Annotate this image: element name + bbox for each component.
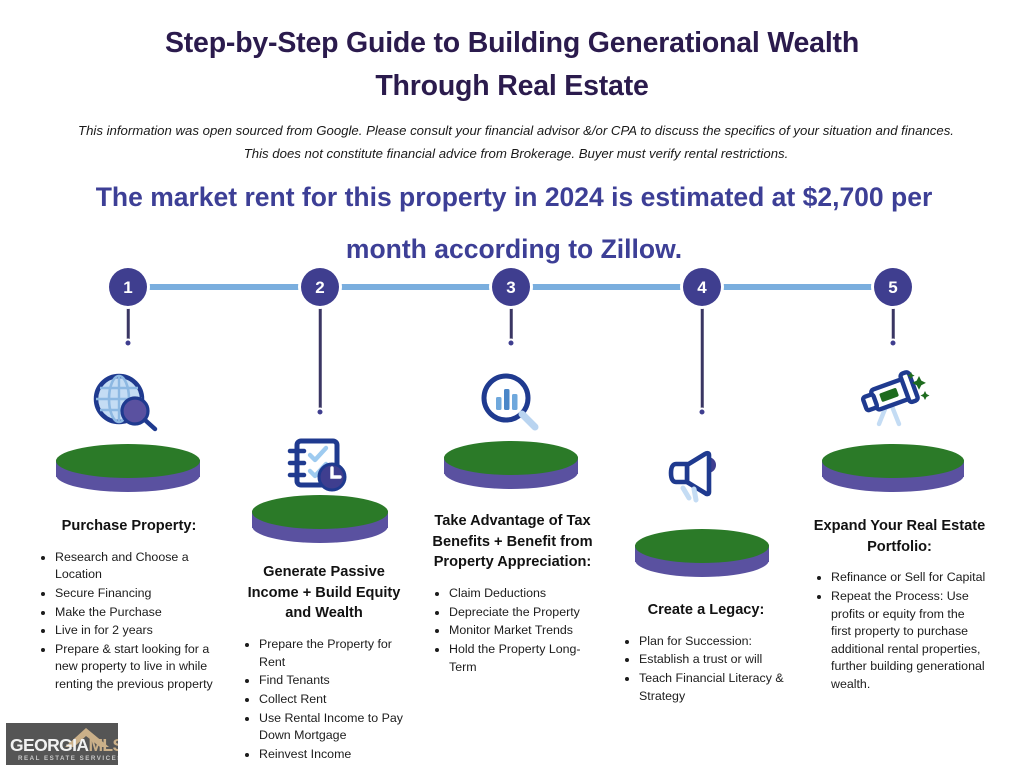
list-item: Make the Purchase bbox=[55, 604, 222, 622]
pedestal-top bbox=[56, 444, 200, 478]
list-item: Claim Deductions bbox=[449, 585, 595, 603]
list-item: Hold the Property Long-Term bbox=[449, 641, 595, 676]
step-bullet-list-4: Plan for Succession: Establish a trust o… bbox=[620, 633, 792, 705]
list-item: Reinvest Income bbox=[259, 746, 408, 764]
step-title-1: Purchase Property: bbox=[36, 516, 222, 537]
step-stem-dot-1 bbox=[124, 339, 133, 348]
step-title-4: Create a Legacy: bbox=[620, 600, 792, 621]
timeline-node-3[interactable]: 3 bbox=[489, 265, 533, 309]
timeline-node-5[interactable]: 5 bbox=[871, 265, 915, 309]
pedestal-3 bbox=[444, 441, 578, 489]
step-bullet-list-2: Prepare the Property for Rent Find Tenan… bbox=[240, 636, 408, 763]
list-item: Research and Choose a Location bbox=[55, 549, 222, 584]
step-bullet-list-3: Claim Deductions Depreciate the Property… bbox=[430, 585, 595, 676]
step-title-2: Generate Passive Income + Build Equity a… bbox=[240, 562, 408, 624]
list-item: Repeat the Process: Use profits or equit… bbox=[831, 588, 987, 694]
step-bullet-list-5: Refinance or Sell for Capital Repeat the… bbox=[812, 569, 987, 693]
megaphone-icon bbox=[663, 448, 733, 506]
step-block-4: Create a Legacy: Plan for Succession: Es… bbox=[620, 600, 792, 706]
pedestal-top bbox=[252, 495, 388, 529]
node-number-label: 5 bbox=[871, 265, 915, 309]
pedestal-1 bbox=[56, 444, 200, 492]
node-number-label: 1 bbox=[106, 265, 150, 309]
list-item: Collect Rent bbox=[259, 691, 408, 709]
step-stem-dot-3 bbox=[507, 339, 516, 348]
step-title-3: Take Advantage of Tax Benefits + Benefit… bbox=[430, 511, 595, 573]
pedestal-4 bbox=[635, 529, 769, 577]
globe-search-icon bbox=[85, 372, 171, 434]
checklist-clock-icon bbox=[284, 435, 356, 497]
logo-wordmark: GEORGIAMLS bbox=[10, 737, 118, 755]
node-number-label: 2 bbox=[298, 265, 342, 309]
pedestal-top bbox=[635, 529, 769, 563]
step-block-1: Purchase Property: Research and Choose a… bbox=[36, 516, 222, 695]
pedestal-top bbox=[822, 444, 964, 478]
list-item: Secure Financing bbox=[55, 585, 222, 603]
timeline-node-4[interactable]: 4 bbox=[680, 265, 724, 309]
list-item: Use Rental Income to Pay Down Mortgage bbox=[259, 710, 408, 745]
list-item: Prepare the Property for Rent bbox=[259, 636, 408, 671]
pedestal-5 bbox=[822, 444, 964, 492]
disclaimer-text: This information was open sourced from G… bbox=[66, 120, 966, 165]
pedestal-top bbox=[444, 441, 578, 475]
step-block-3: Take Advantage of Tax Benefits + Benefit… bbox=[430, 511, 595, 677]
step-stem-dot-2 bbox=[316, 408, 325, 417]
list-item: Prepare & start looking for a new proper… bbox=[55, 641, 222, 694]
timeline-node-2[interactable]: 2 bbox=[298, 265, 342, 309]
market-rent-statement: The market rent for this property in 202… bbox=[70, 172, 958, 275]
timeline-node-1[interactable]: 1 bbox=[106, 265, 150, 309]
logo-name-secondary: MLS bbox=[88, 735, 118, 755]
list-item: Depreciate the Property bbox=[449, 604, 595, 622]
step-stem-dot-4 bbox=[698, 408, 707, 417]
list-item: Teach Financial Literacy & Strategy bbox=[639, 670, 792, 705]
step-stem-dot-5 bbox=[889, 339, 898, 348]
georgia-mls-logo: GEORGIAMLS REAL ESTATE SERVICES bbox=[6, 723, 118, 765]
list-item: Plan for Succession: bbox=[639, 633, 792, 651]
node-number-label: 3 bbox=[489, 265, 533, 309]
chart-magnifier-icon bbox=[475, 372, 547, 434]
step-title-5: Expand Your Real Estate Portfolio: bbox=[812, 516, 987, 557]
logo-name-primary: GEORGIA bbox=[10, 735, 88, 755]
logo-tagline: REAL ESTATE SERVICES bbox=[18, 755, 118, 762]
telescope-icon bbox=[853, 368, 933, 432]
list-item: Live in for 2 years bbox=[55, 622, 222, 640]
list-item: Monitor Market Trends bbox=[449, 622, 595, 640]
step-bullet-list-1: Research and Choose a Location Secure Fi… bbox=[36, 549, 222, 694]
page-title: Step-by-Step Guide to Building Generatio… bbox=[112, 22, 912, 109]
pedestal-2 bbox=[252, 495, 388, 543]
node-number-label: 4 bbox=[680, 265, 724, 309]
step-block-5: Expand Your Real Estate Portfolio: Refin… bbox=[812, 516, 987, 695]
infographic-page: Step-by-Step Guide to Building Generatio… bbox=[0, 0, 1024, 768]
list-item: Find Tenants bbox=[259, 672, 408, 690]
step-block-2: Generate Passive Income + Build Equity a… bbox=[240, 562, 408, 764]
list-item: Refinance or Sell for Capital bbox=[831, 569, 987, 587]
list-item: Establish a trust or will bbox=[639, 651, 792, 669]
